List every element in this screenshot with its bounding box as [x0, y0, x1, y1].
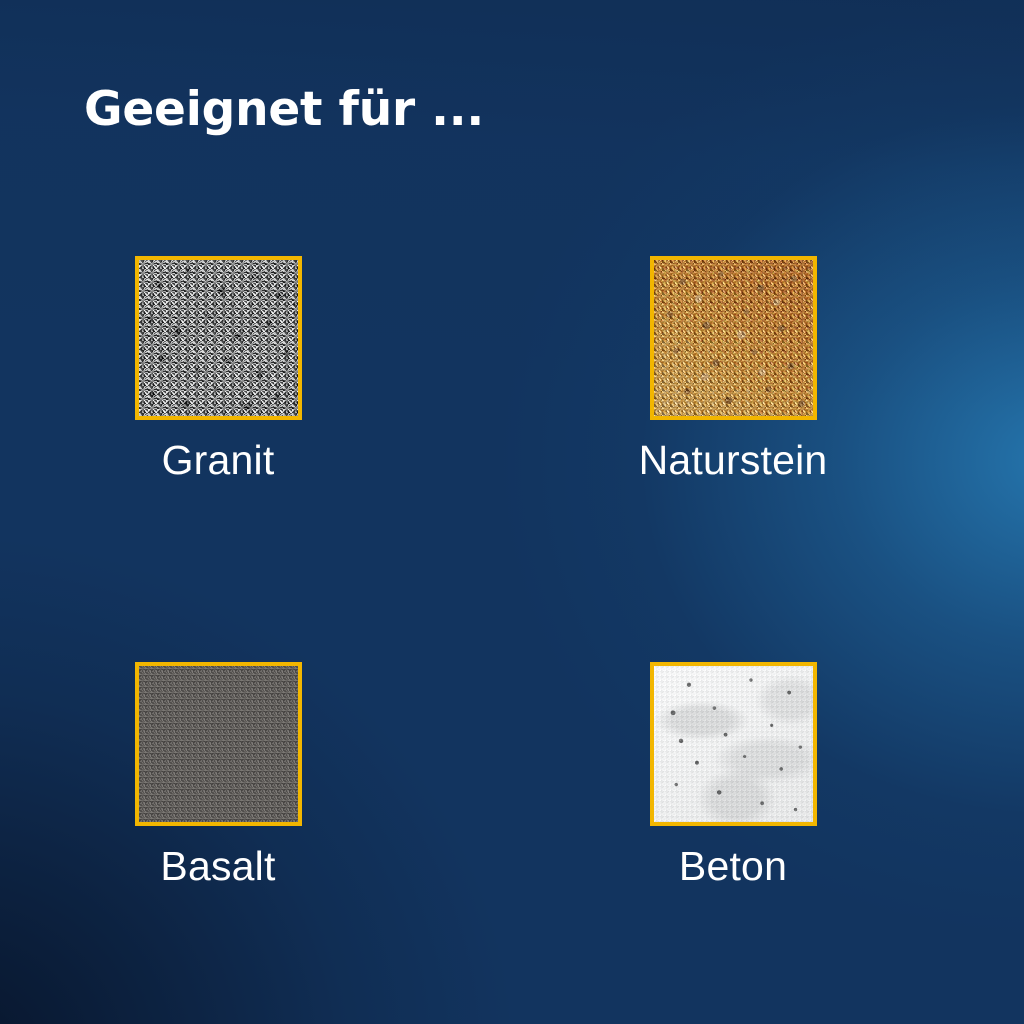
- basalt-texture-fill: [139, 666, 298, 822]
- material-label-beton: Beton: [563, 826, 903, 890]
- concrete-texture-swatch: [650, 662, 817, 826]
- material-label-naturstein: Naturstein: [563, 420, 903, 484]
- granite-texture-swatch: [135, 256, 302, 420]
- material-item-beton: Beton: [563, 662, 903, 890]
- material-label-basalt: Basalt: [48, 826, 388, 890]
- natural-stone-texture-swatch: [650, 256, 817, 420]
- suitability-graphic: Geeignet für ... Granit Naturstein Basal…: [0, 0, 1024, 1024]
- concrete-texture-fill: [654, 666, 813, 822]
- material-item-granit: Granit: [48, 256, 388, 484]
- material-label-granit: Granit: [48, 420, 388, 484]
- granite-texture-fill: [139, 260, 298, 416]
- material-item-basalt: Basalt: [48, 662, 388, 890]
- natural-stone-texture-fill: [654, 260, 813, 416]
- material-grid: Granit Naturstein Basalt Beton: [0, 0, 1024, 1024]
- basalt-texture-swatch: [135, 662, 302, 826]
- material-item-naturstein: Naturstein: [563, 256, 903, 484]
